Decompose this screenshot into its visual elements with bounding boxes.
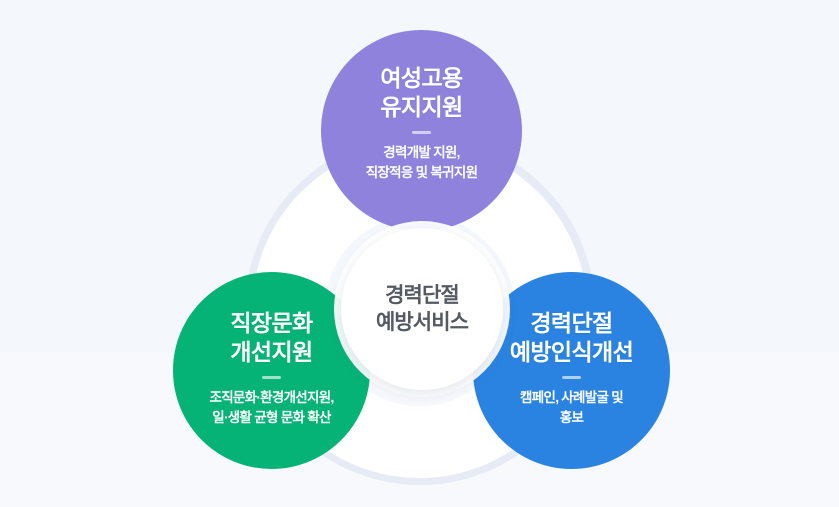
center-hub[interactable]: 경력단절 예방서비스 [341, 228, 503, 390]
divider-line [262, 376, 281, 379]
lobe-description: 조직문화·환경개선지원, 일·생활 균형 문화 확산 [209, 388, 333, 427]
lobe-description: 캠페인, 사례발굴 및 홍보 [520, 388, 623, 427]
lobe-title: 경력단절 예방인식개선 [510, 309, 633, 367]
infographic-canvas: 여성고용 유지지원 경력개발 지원, 직장적응 및 복귀지원 직장문화 개선지원… [0, 0, 839, 507]
divider-line [562, 376, 581, 379]
center-hub-label: 경력단절 예방서비스 [376, 282, 468, 337]
lobe-women-employment-retention[interactable]: 여성고용 유지지원 경력개발 지원, 직장적응 및 복귀지원 [321, 30, 522, 231]
lobe-title: 여성고용 유지지원 [380, 64, 462, 122]
lobe-description: 경력개발 지원, 직장적응 및 복귀지원 [366, 143, 478, 182]
divider-line [412, 131, 431, 134]
lobe-title: 직장문화 개선지원 [230, 309, 312, 367]
